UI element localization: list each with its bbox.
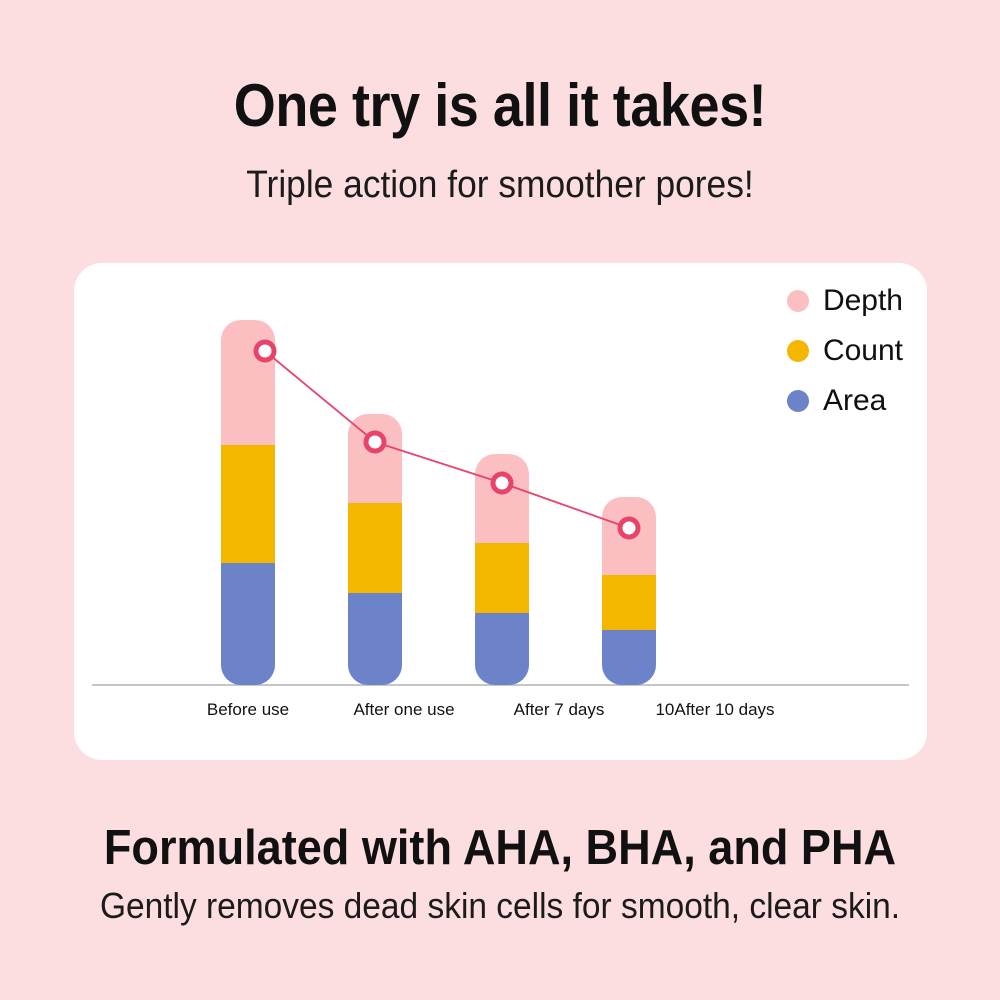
footer-subtitle: Gently removes dead skin cells for smoot… (35, 885, 965, 927)
chart-legend: Depth Count Area (787, 286, 903, 416)
bar-segment-area (602, 630, 656, 685)
bar-segment-count (348, 503, 402, 593)
x-axis-labels: Before use After one use After 7 days 10… (74, 700, 927, 730)
bar-segment-count (475, 543, 529, 613)
legend-item-area[interactable]: Area (787, 386, 903, 416)
trend-marker (366, 433, 384, 451)
footer-title: Formulated with AHA, BHA, and PHA (40, 820, 960, 876)
chart-card: Depth Count Area Before use After one us… (74, 263, 927, 760)
bar-segment-depth (221, 320, 275, 445)
trend-marker (256, 342, 274, 360)
trend-marker (620, 519, 638, 537)
legend-label-depth: Depth (823, 286, 903, 316)
page-headline: One try is all it takes! (50, 74, 950, 137)
legend-item-depth[interactable]: Depth (787, 286, 903, 316)
x-axis-label-2: After 7 days (514, 700, 605, 720)
legend-item-count[interactable]: Count (787, 336, 903, 366)
bar-segment-area (348, 593, 402, 685)
legend-dot-count (787, 340, 809, 362)
legend-dot-area (787, 390, 809, 412)
legend-label-count: Count (823, 336, 903, 366)
bar-segment-area (221, 563, 275, 685)
stacked-bar-chart: Depth Count Area Before use After one us… (74, 263, 927, 760)
trend-marker (493, 474, 511, 492)
x-axis-label-1: After one use (353, 700, 454, 720)
page-subheadline: Triple action for smoother pores! (35, 164, 965, 207)
bar-segment-count (221, 445, 275, 563)
bar-segment-area (475, 613, 529, 685)
x-axis-label-3: 10After 10 days (655, 700, 774, 720)
bar-segment-depth (475, 454, 529, 543)
bar-segment-count (602, 575, 656, 630)
bar-group-before-use (221, 320, 275, 685)
legend-label-area: Area (823, 386, 886, 416)
x-axis-label-0: Before use (207, 700, 289, 720)
bar-group-after-one-use (348, 414, 402, 685)
trend-line (265, 351, 629, 528)
promo-page: One try is all it takes! Triple action f… (0, 0, 1000, 1000)
legend-dot-depth (787, 290, 809, 312)
